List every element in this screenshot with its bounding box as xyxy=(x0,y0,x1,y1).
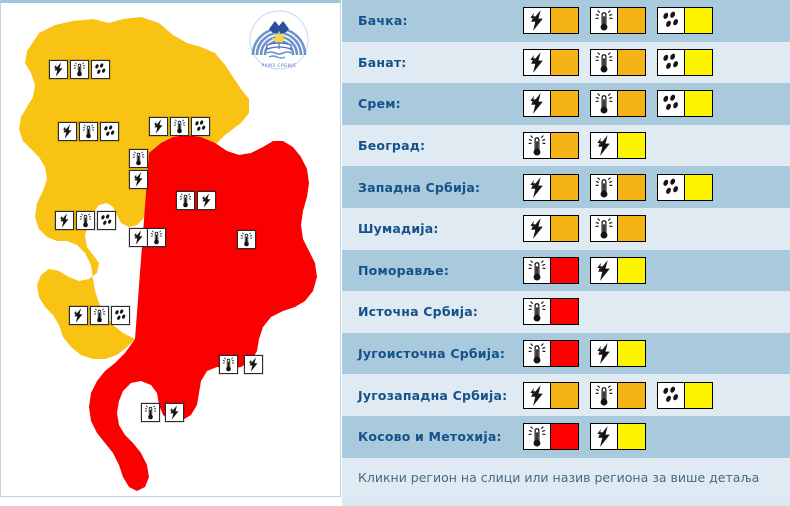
map-thunderstorm-icon[interactable] xyxy=(165,403,184,422)
thunderstorm-icon xyxy=(70,307,87,324)
rain-icon xyxy=(658,8,685,33)
map-thunderstorm-icon[interactable] xyxy=(58,122,77,141)
high-temperature-icon xyxy=(524,341,551,366)
high-temperature-icon xyxy=(524,133,551,158)
map-thunderstorm-icon[interactable] xyxy=(129,228,148,247)
region-row-banat[interactable]: Банат: xyxy=(342,42,790,84)
high-temperature-icon xyxy=(591,91,617,116)
footnote: Кликни регион на слици или назив региона… xyxy=(342,458,790,498)
warning-badge-high-temperature[interactable] xyxy=(590,7,646,34)
region-row-kosovo-i-metohija[interactable]: Косово и Метохија: xyxy=(342,416,790,458)
thunderstorm-icon xyxy=(524,8,551,33)
region-label[interactable]: Банат: xyxy=(358,55,523,70)
region-row-zapadna-srbija[interactable]: Западна Србија: xyxy=(342,166,790,208)
severity-swatch xyxy=(551,216,578,241)
region-row-istocna-srbija[interactable]: Источна Србија: xyxy=(342,291,790,333)
high-temperature-icon xyxy=(591,91,618,116)
severity-swatch xyxy=(618,341,645,366)
thunderstorm-icon xyxy=(591,133,618,158)
map-thunderstorm-icon[interactable] xyxy=(244,355,263,374)
thunderstorm-icon xyxy=(198,192,215,209)
warning-badges xyxy=(523,382,713,409)
warning-badges xyxy=(523,132,646,159)
map-high-temperature-icon[interactable] xyxy=(170,117,189,136)
map-panel: РХМЗ СРБИЈЕ xyxy=(0,0,341,497)
region-row-sumadija[interactable]: Шумадија: xyxy=(342,208,790,250)
region-label[interactable]: Западна Србија: xyxy=(358,180,523,195)
high-temperature-icon xyxy=(171,118,188,135)
map-rain-icon[interactable] xyxy=(97,211,116,230)
warning-badge-thunderstorm[interactable] xyxy=(590,423,646,450)
region-label[interactable]: Срем: xyxy=(358,96,523,111)
rain-icon xyxy=(658,383,684,408)
high-temperature-icon xyxy=(177,192,194,209)
warning-badge-rain[interactable] xyxy=(657,382,713,409)
thunderstorm-icon xyxy=(591,341,618,366)
warning-badge-high-temperature[interactable] xyxy=(590,90,646,117)
warning-badges xyxy=(523,340,646,367)
high-temperature-icon xyxy=(524,424,551,449)
region-label[interactable]: Поморавље: xyxy=(358,263,523,278)
severity-swatch xyxy=(551,299,578,324)
region-row-jugozapadna-srbija[interactable]: Југозападна Србија: xyxy=(342,374,790,416)
high-temperature-icon xyxy=(591,50,618,75)
severity-swatch xyxy=(618,133,645,158)
rain-icon xyxy=(658,175,685,200)
severity-swatch xyxy=(551,50,578,75)
high-temperature-icon xyxy=(591,8,618,33)
severity-swatch xyxy=(551,91,578,116)
thunderstorm-icon xyxy=(524,8,550,33)
map-high-temperature-icon[interactable] xyxy=(237,230,256,249)
thunderstorm-icon xyxy=(50,61,67,78)
thunderstorm-icon xyxy=(524,91,551,116)
map-high-temperature-icon[interactable] xyxy=(129,149,148,168)
high-temperature-icon xyxy=(220,356,237,373)
region-list-panel: Бачка:Банат:Срем:Београд:Западна Србија:… xyxy=(341,0,790,506)
severity-swatch xyxy=(551,133,578,158)
region-label[interactable]: Косово и Метохија: xyxy=(358,429,523,444)
rain-icon xyxy=(658,91,684,116)
warning-badges xyxy=(523,90,713,117)
region-row-pomoravlje[interactable]: Поморавље: xyxy=(342,250,790,292)
thunderstorm-icon xyxy=(524,50,551,75)
map-rain-icon[interactable] xyxy=(111,306,130,325)
high-temperature-icon xyxy=(524,424,550,449)
high-temperature-icon xyxy=(591,383,617,408)
warning-badge-high-temperature[interactable] xyxy=(523,423,579,450)
thunderstorm-icon xyxy=(245,356,262,373)
map-thunderstorm-icon[interactable] xyxy=(49,60,68,79)
high-temperature-icon xyxy=(142,404,159,421)
high-temperature-icon xyxy=(524,299,550,324)
thunderstorm-icon xyxy=(130,171,147,188)
severity-swatch xyxy=(685,175,712,200)
warning-badge-thunderstorm[interactable] xyxy=(590,132,646,159)
map-high-temperature-icon[interactable] xyxy=(79,122,98,141)
map-high-temperature-icon[interactable] xyxy=(176,191,195,210)
map-rain-icon[interactable] xyxy=(100,122,119,141)
region-label[interactable]: Бачка: xyxy=(358,13,523,28)
rain-icon xyxy=(658,8,684,33)
thunderstorm-icon xyxy=(591,424,617,449)
high-temperature-icon xyxy=(77,212,94,229)
rain-icon xyxy=(658,50,684,75)
map-high-temperature-icon[interactable] xyxy=(70,60,89,79)
severity-swatch xyxy=(685,50,712,75)
map-high-temperature-icon[interactable] xyxy=(141,403,160,422)
thunderstorm-icon xyxy=(524,175,551,200)
map-thunderstorm-icon[interactable] xyxy=(69,306,88,325)
high-temperature-icon xyxy=(591,8,617,33)
region-label[interactable]: Југоисточна Србија: xyxy=(358,346,523,361)
warning-badge-rain[interactable] xyxy=(657,7,713,34)
warning-badges xyxy=(523,257,646,284)
warning-badge-rain[interactable] xyxy=(657,49,713,76)
high-temperature-icon xyxy=(148,229,165,246)
thunderstorm-icon xyxy=(524,383,550,408)
severity-swatch xyxy=(551,258,578,283)
meteo-alarm-page: РХМЗ СРБИЈЕ Бачка:Банат:Срем:Београд:Зап… xyxy=(0,0,790,506)
warning-badge-thunderstorm[interactable] xyxy=(523,7,579,34)
severity-swatch xyxy=(618,8,645,33)
high-temperature-icon xyxy=(591,50,617,75)
high-temperature-icon xyxy=(80,123,97,140)
severity-swatch xyxy=(685,91,712,116)
warning-badge-thunderstorm[interactable] xyxy=(523,382,579,409)
warning-badge-thunderstorm[interactable] xyxy=(523,174,579,201)
high-temperature-icon xyxy=(524,299,551,324)
high-temperature-icon xyxy=(130,150,147,167)
high-temperature-icon xyxy=(71,61,88,78)
thunderstorm-icon xyxy=(59,123,76,140)
thunderstorm-icon xyxy=(524,91,550,116)
rain-icon xyxy=(101,123,118,140)
severity-swatch xyxy=(685,8,712,33)
severity-swatch xyxy=(618,383,645,408)
warning-badge-thunderstorm[interactable] xyxy=(523,215,579,242)
map-thunderstorm-icon[interactable] xyxy=(197,191,216,210)
severity-swatch xyxy=(618,91,645,116)
warning-badge-high-temperature[interactable] xyxy=(523,257,579,284)
warning-badge-high-temperature[interactable] xyxy=(590,49,646,76)
high-temperature-icon xyxy=(591,383,618,408)
rain-icon xyxy=(658,383,685,408)
high-temperature-icon xyxy=(524,341,550,366)
high-temperature-icon xyxy=(591,216,618,241)
rain-icon xyxy=(98,212,115,229)
high-temperature-icon xyxy=(91,307,108,324)
warning-badge-high-temperature[interactable] xyxy=(590,215,646,242)
thunderstorm-icon xyxy=(591,341,617,366)
thunderstorm-icon xyxy=(150,118,167,135)
region-label[interactable]: Шумадија: xyxy=(358,221,523,236)
severity-swatch xyxy=(551,175,578,200)
warning-badge-high-temperature[interactable] xyxy=(523,298,579,325)
warning-badge-thunderstorm[interactable] xyxy=(523,90,579,117)
warning-badge-thunderstorm[interactable] xyxy=(590,340,646,367)
region-row-beograd[interactable]: Београд: xyxy=(342,125,790,167)
map-high-temperature-icon[interactable] xyxy=(90,306,109,325)
severity-swatch xyxy=(618,424,645,449)
warning-badges xyxy=(523,7,713,34)
thunderstorm-icon xyxy=(524,216,550,241)
high-temperature-icon xyxy=(591,216,617,241)
severity-swatch xyxy=(551,383,578,408)
warning-badges xyxy=(523,298,579,325)
map-rain-icon[interactable] xyxy=(191,117,210,136)
region-label[interactable]: Источна Србија: xyxy=(358,304,523,319)
thunderstorm-icon xyxy=(591,258,618,283)
warning-badge-high-temperature[interactable] xyxy=(523,132,579,159)
region-label[interactable]: Југозападна Србија: xyxy=(358,388,523,403)
thunderstorm-icon xyxy=(524,383,551,408)
high-temperature-icon xyxy=(591,175,617,200)
rain-icon xyxy=(92,61,109,78)
high-temperature-icon xyxy=(238,231,255,248)
warning-badges xyxy=(523,49,713,76)
warning-badge-rain[interactable] xyxy=(657,90,713,117)
severity-swatch xyxy=(685,383,712,408)
severity-swatch xyxy=(551,341,578,366)
severity-swatch xyxy=(618,175,645,200)
high-temperature-icon xyxy=(591,175,618,200)
map-rain-icon[interactable] xyxy=(91,60,110,79)
severity-swatch xyxy=(618,216,645,241)
map-high-temperature-icon[interactable] xyxy=(219,355,238,374)
map-high-temperature-icon[interactable] xyxy=(76,211,95,230)
map-thunderstorm-icon[interactable] xyxy=(129,170,148,189)
thunderstorm-icon xyxy=(524,50,550,75)
map-high-temperature-icon[interactable] xyxy=(147,228,166,247)
warning-badge-thunderstorm[interactable] xyxy=(590,257,646,284)
rain-icon xyxy=(658,175,684,200)
severity-swatch xyxy=(618,50,645,75)
warning-badge-high-temperature[interactable] xyxy=(590,174,646,201)
warning-badge-high-temperature[interactable] xyxy=(590,382,646,409)
severity-swatch xyxy=(618,258,645,283)
rain-icon xyxy=(658,91,685,116)
high-temperature-icon xyxy=(524,133,550,158)
map-thunderstorm-icon[interactable] xyxy=(149,117,168,136)
rain-icon xyxy=(192,118,209,135)
warning-badges xyxy=(523,215,646,242)
thunderstorm-icon xyxy=(56,212,73,229)
thunderstorm-icon xyxy=(591,424,618,449)
severity-swatch xyxy=(551,424,578,449)
warning-badge-rain[interactable] xyxy=(657,174,713,201)
map-thunderstorm-icon[interactable] xyxy=(55,211,74,230)
high-temperature-icon xyxy=(524,258,550,283)
region-label[interactable]: Београд: xyxy=(358,138,523,153)
warning-badge-thunderstorm[interactable] xyxy=(523,49,579,76)
rain-icon xyxy=(658,50,685,75)
thunderstorm-icon xyxy=(524,216,551,241)
region-row-backa[interactable]: Бачка: xyxy=(342,0,790,42)
warning-badges xyxy=(523,423,646,450)
region-row-srem[interactable]: Срем: xyxy=(342,83,790,125)
thunderstorm-icon xyxy=(130,229,147,246)
thunderstorm-icon xyxy=(166,404,183,421)
severity-swatch xyxy=(551,8,578,33)
thunderstorm-icon xyxy=(591,258,617,283)
region-rows: Бачка:Банат:Срем:Београд:Западна Србија:… xyxy=(342,0,790,458)
rhmz-logo: РХМЗ СРБИЈЕ xyxy=(247,9,311,75)
thunderstorm-icon xyxy=(591,133,617,158)
warning-badges xyxy=(523,174,713,201)
region-row-jugoistocna-srbija[interactable]: Југоисточна Србија: xyxy=(342,333,790,375)
warning-badge-high-temperature[interactable] xyxy=(523,340,579,367)
logo-caption: РХМЗ СРБИЈЕ xyxy=(262,63,297,68)
high-temperature-icon xyxy=(524,258,551,283)
thunderstorm-icon xyxy=(524,175,550,200)
rain-icon xyxy=(112,307,129,324)
